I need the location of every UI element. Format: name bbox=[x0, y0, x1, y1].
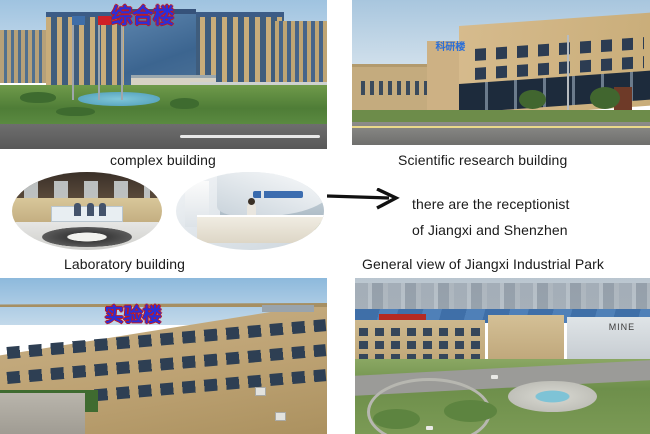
reception-desk bbox=[197, 215, 324, 244]
flagpole bbox=[72, 18, 74, 100]
office-block-center bbox=[488, 315, 565, 359]
annotation-note-line-1: there are the receptionist bbox=[412, 196, 569, 212]
laboratory-building-image bbox=[0, 278, 327, 434]
road bbox=[352, 122, 650, 145]
building-right-wing bbox=[275, 21, 327, 87]
photo-industrial-park: MINE bbox=[355, 278, 650, 434]
flag-red bbox=[98, 16, 111, 25]
tree bbox=[519, 90, 546, 109]
tree bbox=[590, 87, 620, 109]
annotation-note-line-2: of Jiangxi and Shenzhen bbox=[412, 222, 568, 238]
air-conditioner-unit bbox=[275, 412, 286, 421]
building-sign-chinese: 实验楼 bbox=[105, 300, 162, 327]
walkway bbox=[0, 393, 85, 434]
floor-medallion bbox=[42, 227, 132, 247]
right-arrow-icon bbox=[327, 188, 407, 210]
billboard-text: MINE bbox=[609, 322, 636, 332]
caption-research-building: Scientific research building bbox=[398, 152, 567, 168]
parked-car bbox=[491, 375, 498, 379]
building-left-wing bbox=[0, 30, 49, 84]
caption-complex-building: complex building bbox=[110, 152, 216, 168]
road bbox=[0, 124, 327, 149]
staff-person bbox=[99, 203, 106, 216]
annotation-arrow-group bbox=[327, 188, 407, 210]
photo-reception-desk bbox=[176, 172, 324, 250]
photo-lobby-hall bbox=[12, 172, 162, 250]
caption-laboratory-building: Laboratory building bbox=[64, 256, 185, 272]
flagpole bbox=[121, 18, 123, 100]
street-lamp bbox=[567, 35, 569, 110]
building-sign-chinese: 科研楼 bbox=[435, 38, 465, 53]
staff-person bbox=[87, 203, 94, 216]
flag-blue bbox=[72, 16, 85, 25]
research-building-image: 科研楼 bbox=[352, 0, 650, 145]
window-row bbox=[359, 328, 481, 336]
shrub bbox=[20, 92, 56, 102]
parked-car bbox=[426, 426, 433, 430]
air-conditioner-unit bbox=[255, 387, 266, 396]
staff-person bbox=[74, 203, 81, 216]
roundabout-fountain bbox=[508, 381, 597, 412]
shrub bbox=[170, 98, 199, 108]
photo-laboratory-building: 实验楼 bbox=[0, 278, 327, 434]
front-lawn bbox=[0, 85, 327, 124]
fountain bbox=[78, 92, 160, 105]
shrub bbox=[56, 107, 95, 116]
caption-industrial-park: General view of Jiangxi Industrial Park bbox=[362, 256, 604, 272]
grass-patch bbox=[444, 400, 497, 422]
rooftop-equipment bbox=[262, 305, 314, 313]
photo-complex-building: 综合楼 bbox=[0, 0, 327, 149]
photo-research-building: 科研楼 bbox=[352, 0, 650, 145]
red-banner-sign bbox=[379, 314, 426, 320]
company-logo bbox=[253, 191, 303, 198]
flagpole bbox=[98, 18, 100, 100]
building-sign-chinese: 综合楼 bbox=[111, 0, 174, 30]
window-row bbox=[359, 341, 481, 349]
